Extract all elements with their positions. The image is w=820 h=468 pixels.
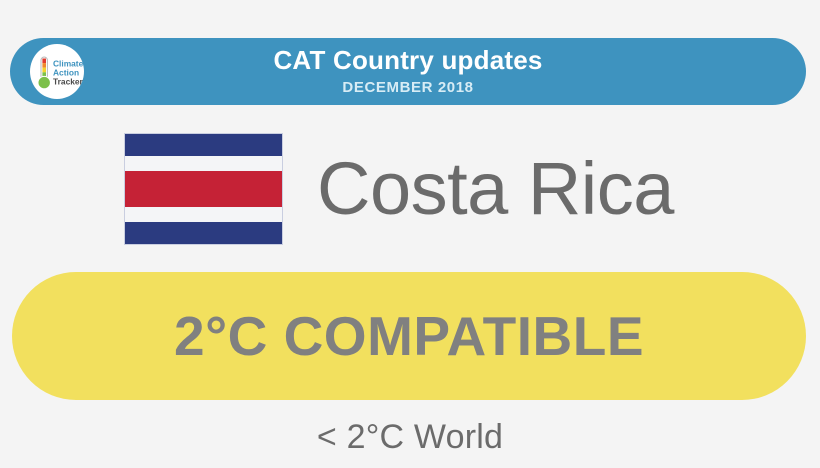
country-row: Costa Rica	[0, 128, 820, 250]
country-name: Costa Rica	[317, 152, 674, 226]
flag-stripe-blue-top	[125, 134, 282, 156]
costa-rica-flag-icon	[124, 133, 283, 245]
header-text-block: CAT Country updates DECEMBER 2018	[10, 38, 806, 105]
header-banner: Climate Action Tracker CAT Country updat…	[10, 38, 806, 105]
flag-stripe-white-upper	[125, 156, 282, 171]
footer-row: < 2°C World	[0, 408, 820, 466]
flag-stripe-white-lower	[125, 207, 282, 222]
flag-stripe-blue-bottom	[125, 222, 282, 244]
rating-description: < 2°C World	[317, 418, 503, 457]
rating-label: 2°C COMPATIBLE	[174, 309, 644, 364]
page-subtitle: DECEMBER 2018	[342, 79, 473, 96]
flag-stripe-red	[125, 171, 282, 206]
rating-badge: 2°C COMPATIBLE	[12, 272, 806, 400]
page-title: CAT Country updates	[273, 47, 542, 74]
